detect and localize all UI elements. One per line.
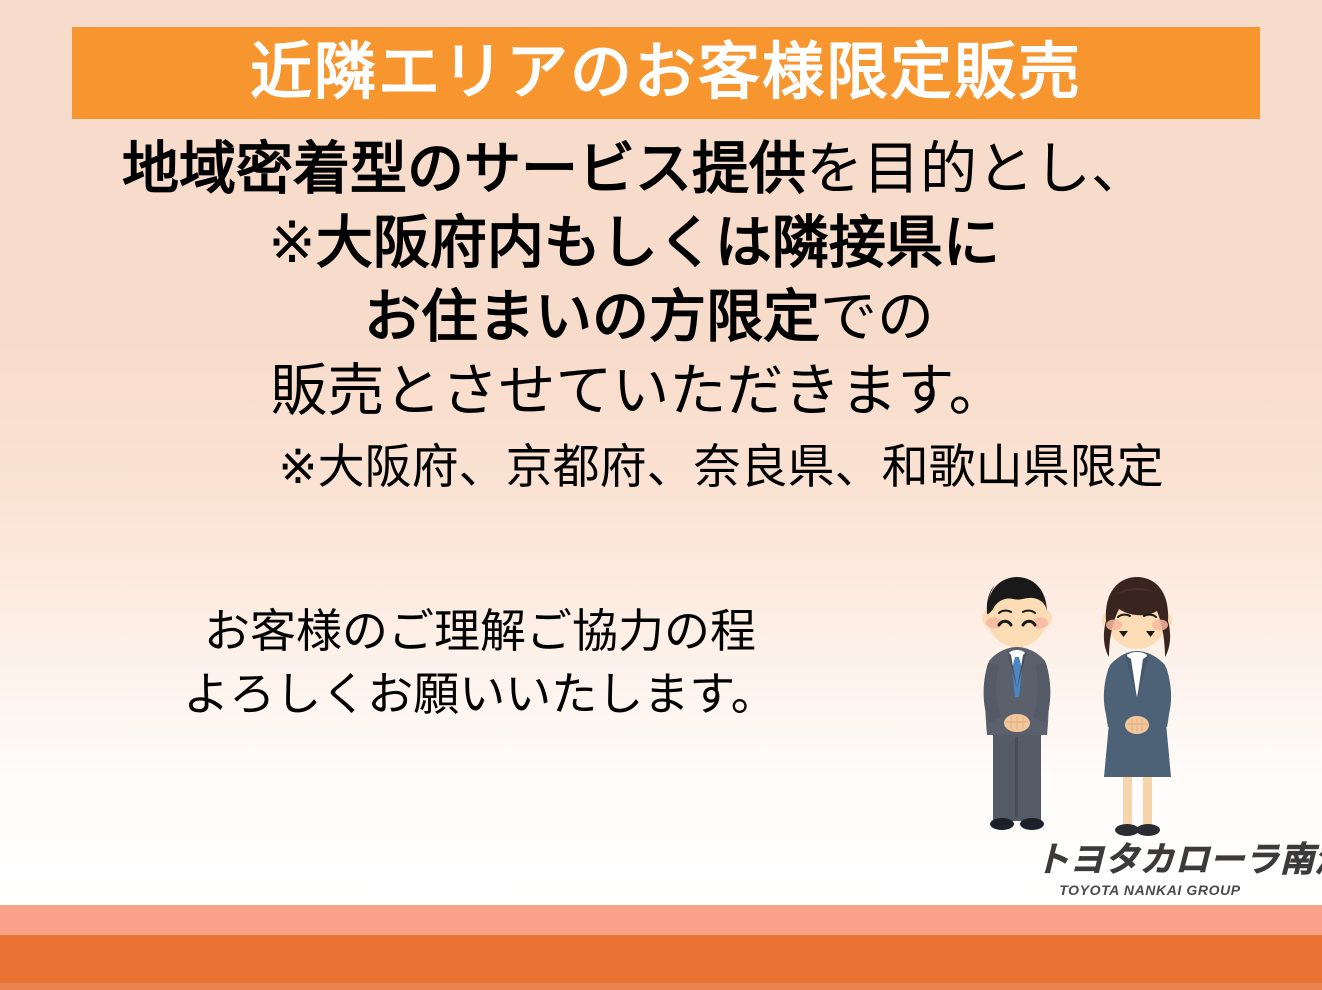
message-line-1-regular: を目的とし、 <box>806 137 1148 201</box>
slide-canvas: 近隣エリアのお客様限定販売 地域密着型のサービス提供を目的とし、 ※大阪府内もし… <box>0 0 1322 990</box>
message-line-1: 地域密着型のサービス提供を目的とし、 <box>0 132 1322 206</box>
company-logo: トヨタカローラ南海 TOYOTA NANKAI GROUP <box>1035 843 1265 898</box>
prefecture-note: ※大阪府、京都府、奈良県、和歌山県限定 <box>0 436 1322 497</box>
message-line-4-regular: 販売とさせていただきます。 <box>270 359 1005 423</box>
bottom-orange-edge <box>0 983 1322 990</box>
logo-english-text: TOYOTA NANKAI GROUP <box>1035 882 1265 898</box>
message-line-3-bold: お住まいの方限定 <box>364 285 820 349</box>
woman-figure <box>1102 577 1172 836</box>
banner-title: 近隣エリアのお客様限定販売 <box>250 42 1082 104</box>
message-line-3: お住まいの方限定での <box>0 280 1322 354</box>
bottom-orange-bar <box>0 935 1322 983</box>
man-figure <box>982 577 1052 830</box>
message-line-1-bold: 地域密着型のサービス提供 <box>122 137 806 201</box>
closing-message-block: お客様のご理解ご協力の程 よろしくお願いいたします。 <box>0 600 960 727</box>
closing-line-2: よろしくお願いいたします。 <box>0 663 960 726</box>
message-line-3-regular: での <box>820 285 934 349</box>
bowing-people-illustration <box>975 565 1225 855</box>
message-line-2-bold: 大阪府内もしくは隣接県に <box>316 211 1000 275</box>
header-banner: 近隣エリアのお客様限定販売 <box>72 27 1260 119</box>
closing-line-1: お客様のご理解ご協力の程 <box>0 600 960 663</box>
bottom-salmon-bar <box>0 905 1322 935</box>
message-line-4: 販売とさせていただきます。 <box>0 354 1322 428</box>
message-line-2-mark: ※ <box>268 211 316 275</box>
main-message-block: 地域密着型のサービス提供を目的とし、 ※大阪府内もしくは隣接県に お住まいの方限… <box>0 132 1322 497</box>
message-line-2: ※大阪府内もしくは隣接県に <box>0 206 1322 280</box>
logo-japanese-text: トヨタカローラ南海 <box>1035 843 1265 877</box>
